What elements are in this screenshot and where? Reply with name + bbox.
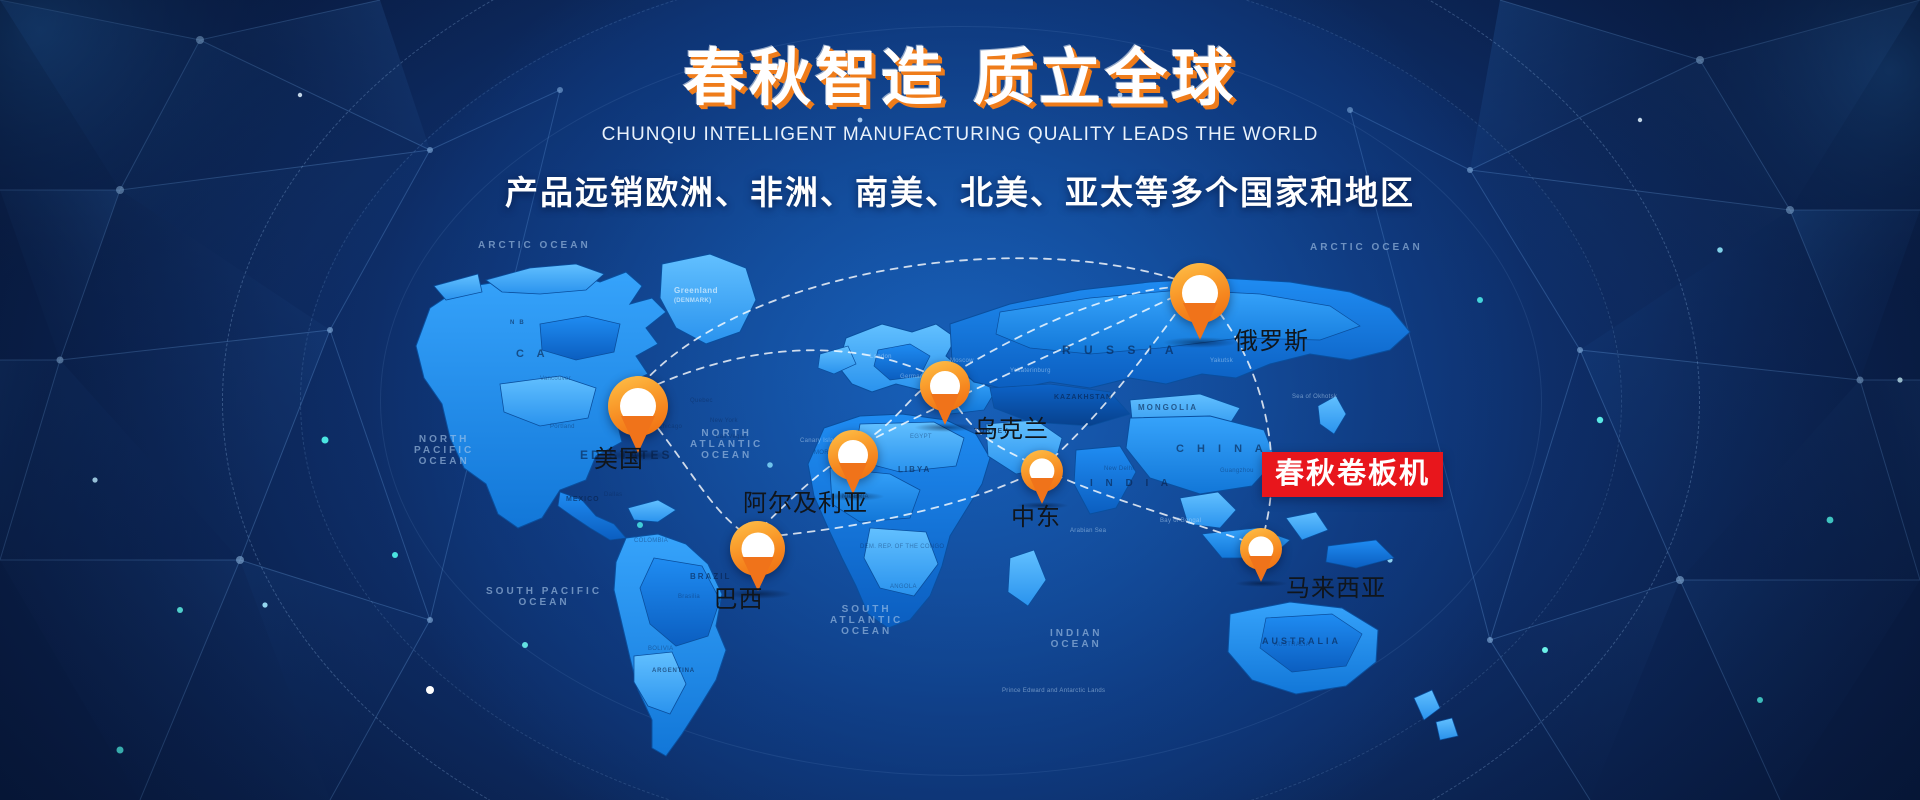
pin-shadow [914, 423, 977, 432]
pin-shadow [1235, 580, 1288, 587]
headline-block: 春秋智造质立全球 CHUNQIU INTELLIGENT MANUFACTURI… [0, 46, 1920, 214]
pin-label-algeria: 阿尔及利亚 [743, 483, 868, 518]
pin-label-brazil: 巴西 [714, 579, 764, 614]
pin-label-malaysia: 马来西亚 [1286, 568, 1386, 603]
map-pin-usa[interactable]: 美国 [608, 376, 668, 436]
map-pin-russia[interactable]: 俄罗斯 [1170, 263, 1230, 323]
pin-tip [1249, 556, 1273, 582]
product-badge[interactable]: 春秋卷板机 [1262, 452, 1443, 497]
map-pin-algeria[interactable]: 阿尔及利亚 [828, 430, 878, 480]
pin-label-usa: 美国 [594, 439, 644, 474]
map-pin-middle-east[interactable]: 中东 [1021, 450, 1063, 492]
pin-tip [931, 394, 959, 425]
pin-label-russia: 俄罗斯 [1234, 321, 1309, 356]
pin-label-ukraine: 乌克兰 [974, 409, 1049, 444]
page-title: 春秋智造质立全球 [0, 46, 1920, 110]
pin-tip [1183, 303, 1217, 340]
pin-label-middle-east: 中东 [1011, 497, 1061, 532]
map-pin-brazil[interactable]: 巴西 [730, 521, 785, 576]
title-chinese-subtitle: 产品远销欧洲、非洲、南美、北美、亚太等多个国家和地区 [0, 166, 1920, 214]
banner-root: 春秋智造质立全球 CHUNQIU INTELLIGENT MANUFACTURI… [0, 0, 1920, 800]
title-part-1: 春秋智造 [683, 41, 947, 114]
world-map: ARCTIC OCEAN ARCTIC OCEAN NORTH PACIFIC … [390, 228, 1540, 773]
map-pin-ukraine[interactable]: 乌克兰 [920, 361, 970, 411]
map-pin-malaysia[interactable]: 马来西亚 [1240, 528, 1282, 570]
title-english-subtitle: CHUNQIU INTELLIGENT MANUFACTURING QUALIT… [0, 124, 1920, 146]
title-part-2: 质立全球 [973, 41, 1237, 114]
